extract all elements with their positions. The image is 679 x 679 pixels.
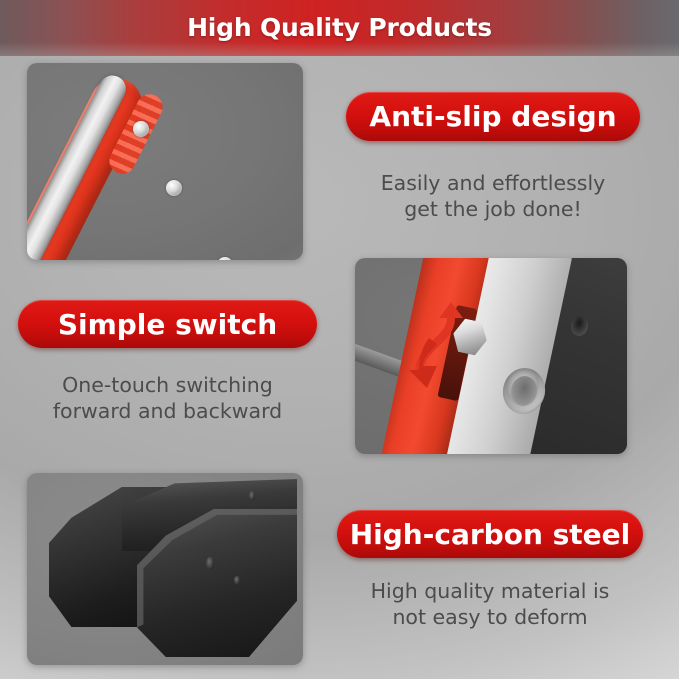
caption-line-2: forward and backward: [10, 398, 325, 424]
badge-label: High-carbon steel: [350, 518, 631, 551]
badge-high-carbon-steel: High-carbon steel: [337, 510, 643, 558]
caption-simple-switch: One-touch switching forward and backward: [10, 372, 325, 424]
image-panel-red-grip-handle: [27, 63, 303, 260]
red-grip-handle-photo: [27, 63, 303, 260]
caption-anti-slip-design: Easily and effortlessly get the job done…: [338, 170, 648, 222]
badge-anti-slip-design: Anti-slip design: [346, 92, 640, 141]
caption-line-1: Easily and effortlessly: [381, 171, 606, 195]
image-panel-steel-jaws: [27, 473, 303, 665]
caption-line-2: get the job done!: [338, 196, 648, 222]
header-banner: High Quality Products: [0, 0, 679, 56]
badge-simple-switch: Simple switch: [18, 300, 317, 348]
caption-line-1: High quality material is: [371, 579, 610, 603]
product-infographic: High Quality Products Anti-slip design E…: [0, 0, 679, 679]
jaw-hole-icon: [234, 576, 240, 585]
jaw-hole-icon: [249, 491, 255, 501]
image-panel-switch-mechanism: [355, 258, 627, 454]
page-title: High Quality Products: [0, 0, 679, 56]
rivet-icon: [217, 257, 233, 260]
caption-high-carbon-steel: High quality material is not easy to def…: [330, 578, 650, 630]
caption-line-2: not easy to deform: [330, 604, 650, 630]
rivet-icon: [166, 180, 182, 196]
switch-mechanism-photo: [355, 258, 627, 454]
caption-line-1: One-touch switching: [62, 373, 273, 397]
badge-label: Anti-slip design: [369, 100, 616, 133]
rivet-icon: [133, 121, 149, 137]
badge-label: Simple switch: [58, 308, 277, 341]
jaw-hole-icon: [206, 557, 214, 570]
bidirectional-arrows-icon: [393, 292, 503, 402]
black-steel-jaws-photo: [27, 473, 303, 665]
